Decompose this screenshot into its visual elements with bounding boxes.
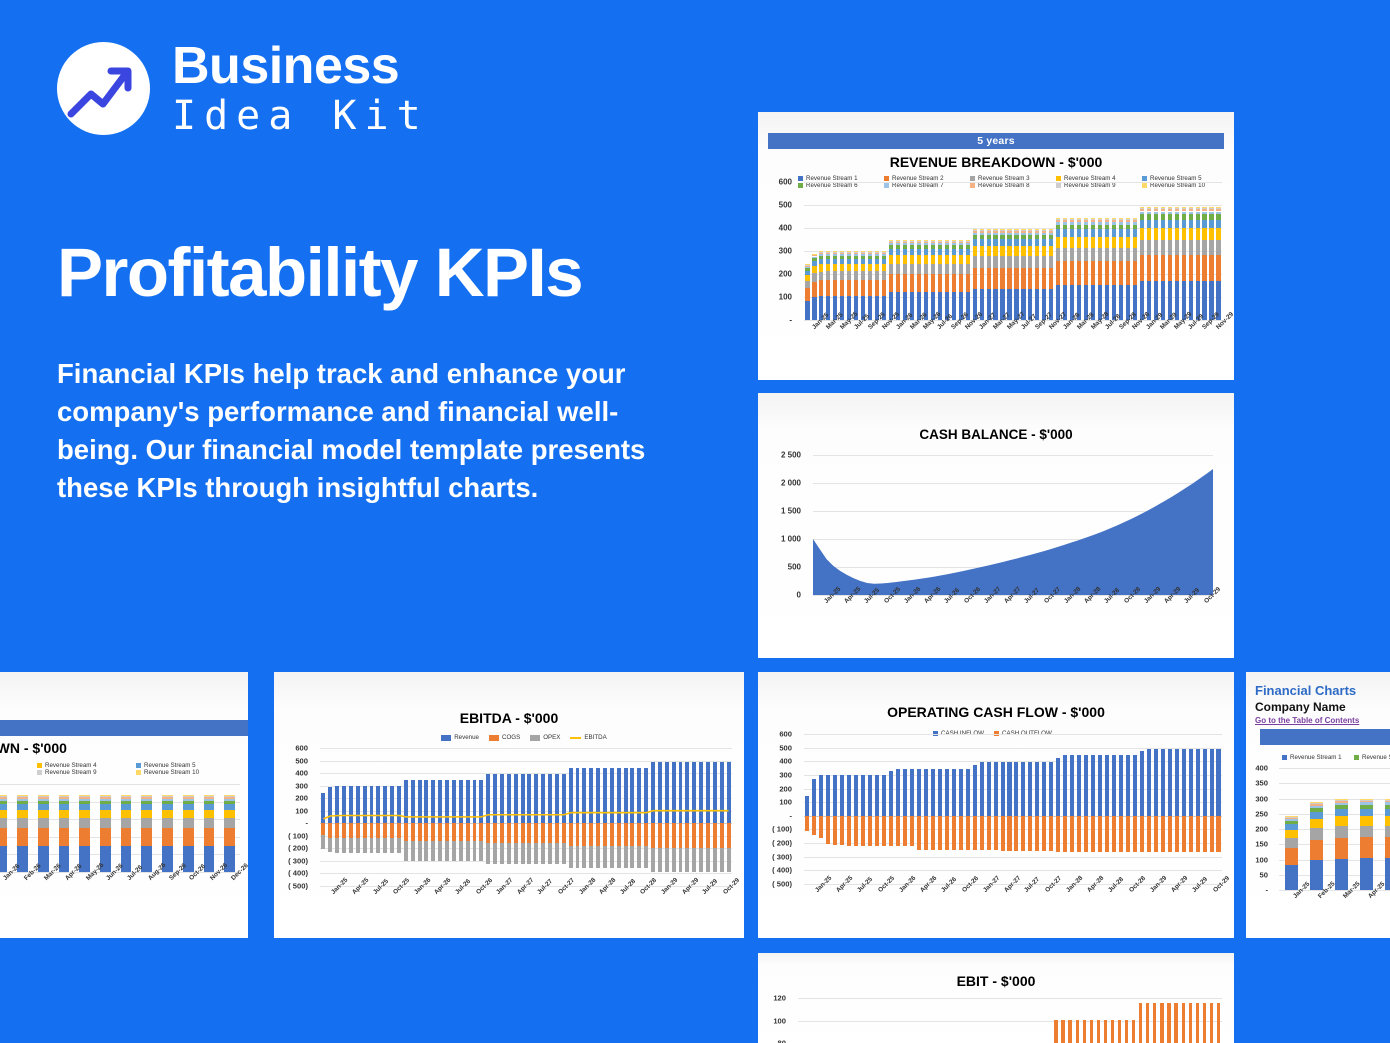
bar-segment [819,264,823,271]
bar-negative [819,816,823,838]
bar [917,240,921,320]
bar-positive [1035,762,1039,816]
bar-segment [1189,212,1193,215]
bar-segment [1168,228,1172,240]
y-axis-tick: 600 [779,178,792,187]
bar-segment [1133,218,1137,219]
bar [100,795,111,872]
bar-segment [1084,222,1088,225]
bar-positive [1007,762,1011,816]
bar-segment [79,795,90,796]
bar-segment [141,801,152,804]
bar-segment [1119,248,1123,261]
bar-segment [952,274,956,292]
bar-positive [1049,762,1053,816]
bar-segment [1077,219,1081,220]
bar [889,240,893,320]
bar-segment [819,256,823,259]
bar [1196,1003,1199,1043]
bar-segment [100,795,111,796]
bar-segment [1070,261,1074,284]
bar-segment [1112,229,1116,237]
bar-segment [805,267,809,268]
bar-segment [805,271,809,275]
trend-arrow-circle-icon [57,42,150,135]
gridline [1279,768,1390,769]
bar-negative [931,816,935,850]
bar-segment [833,254,837,256]
bar-segment [1285,824,1298,830]
bar-segment [910,242,914,243]
bar-segment [1098,218,1102,219]
bar-segment [1084,248,1088,261]
y-axis-tick: 350 [1255,779,1268,788]
y-axis-tick: 300 [779,247,792,256]
bar-negative [1154,816,1158,853]
bar-segment [1154,214,1158,219]
bar-positive [1140,751,1144,815]
bar-positive [1216,749,1220,816]
bar-segment [924,240,928,241]
bar-segment [1042,235,1046,239]
bar-segment [1182,228,1186,240]
bar-segment [1133,229,1137,237]
bar-segment [1175,207,1179,208]
bar-positive [1056,758,1060,816]
legend-label: Revenue Stream 2 [892,175,944,182]
bar [959,240,963,320]
bar-segment [1007,229,1011,230]
bar-segment [833,271,837,280]
legend-item: Revenue Stream 3 [0,762,37,769]
bar-segment [1042,268,1046,289]
bar-segment [1063,219,1067,220]
bar-segment [1077,229,1081,237]
bar-segment [38,804,49,810]
bar [1202,207,1206,320]
bar-segment [812,255,816,256]
bar-positive [1063,755,1067,815]
bar-segment [973,230,977,231]
bar [993,229,997,320]
y-axis: 600500400300200100-( 100)( 200)( 300)( 4… [274,748,314,886]
bar-segment [17,797,28,798]
bar-negative [1210,816,1214,853]
x-axis: Jan-25Mar-25May-25Jul-25Sep-25Nov-25Jan-… [804,324,1222,374]
bar-positive [1001,762,1005,816]
bar-segment [812,258,816,261]
bar-segment [1021,239,1025,246]
bar-negative [1168,816,1172,853]
bar [183,795,194,872]
y-axis-tick: 100 [1255,855,1268,864]
bar-segment [59,799,70,801]
bar-segment [917,255,921,263]
bar-segment [854,256,858,259]
bar-negative [889,816,893,846]
bar-positive [910,769,914,816]
legend-item: OPEX [530,734,560,741]
bar-segment [910,241,914,242]
bar-segment [980,256,984,268]
bar-segment [903,274,907,292]
bar-segment [931,264,935,274]
bar [1070,218,1074,320]
bar-segment [141,810,152,818]
bar-segment [100,799,111,801]
bar-positive [966,769,970,816]
area-series [813,455,1213,595]
bar-segment [924,264,928,274]
bar-segment [959,249,963,255]
bar-negative [1196,816,1200,853]
bar-segment [882,254,886,256]
bar-positive [868,775,872,816]
bar-segment [847,251,851,252]
bar-segment [0,810,7,818]
bar-segment [1385,837,1390,858]
bar-negative [966,816,970,850]
bar-segment [812,257,816,259]
bar-segment [162,795,173,796]
bar-segment [1119,261,1123,284]
bar [1090,1020,1093,1043]
bar-segment [966,240,970,241]
bar-segment [819,259,823,264]
bar-segment [1216,208,1220,209]
chart-legend: RevenueCOGSOPEXEBITDA [424,734,624,741]
chart-title-ebit: EBIT - $'000 [758,973,1234,989]
bar [1139,1003,1142,1043]
bar-negative [896,816,900,846]
bar-segment [1175,212,1179,215]
y-axis-tick: 200 [779,784,792,793]
bar-segment [1077,220,1081,222]
bar-segment [903,242,907,243]
bar-segment [945,274,949,292]
card-financial-charts[interactable]: Financial Charts Company Name Go to the … [1246,672,1390,938]
bar-segment [1189,208,1193,209]
bar-segment [1035,239,1039,246]
bar-segment [1154,209,1158,211]
bar-negative [924,816,928,850]
bar-segment [1335,838,1348,859]
y-axis-tick: 200 [779,270,792,279]
bar [1168,207,1172,320]
bar-segment [1049,231,1053,233]
bar-segment [826,251,830,252]
legend-item: Revenue Stream 1 [798,175,884,182]
bar-segment [819,251,823,252]
bar-segment [973,233,977,235]
bar-segment [1112,219,1116,220]
bar-segment [1084,229,1088,237]
bar-segment [875,264,879,271]
bar-segment [993,229,997,230]
bar-segment [1098,222,1102,225]
bar-positive [931,769,935,816]
bar-segment [896,243,900,245]
bar-segment [1126,229,1130,237]
bar-segment [1014,230,1018,231]
bar-positive [861,775,865,816]
bar-segment [1216,228,1220,240]
bar-segment [17,801,28,804]
bar-positive [917,769,921,816]
bar-segment [1216,255,1220,281]
bar-segment [204,804,215,810]
bar-segment [1335,859,1348,890]
bar-segment [1105,225,1109,230]
bar-segment [1175,240,1179,255]
bar-segment [17,804,28,810]
bar-segment [1209,208,1213,209]
bar-segment [1140,209,1144,211]
bar-segment [162,828,173,846]
bar-segment [1070,222,1074,225]
bar-segment [952,264,956,274]
card-revenue-breakdown-5y[interactable]: 5 years REVENUE BREAKDOWN - $'000 Revenu… [758,112,1234,380]
bar [121,795,132,872]
bar-segment [1049,229,1053,230]
card-ebit[interactable]: EBIT - $'000 12010080 [758,953,1234,1043]
bar-segment [1105,261,1109,284]
bar-positive [882,775,886,816]
bar-segment [1056,220,1060,222]
bar [868,251,872,320]
bar-segment [1335,809,1348,816]
bar-segment [910,255,914,263]
bar-positive [994,762,998,816]
bar-segment [1161,255,1165,281]
bar-segment [959,255,963,263]
bar-segment [1189,214,1193,219]
bar-segment [1140,220,1144,229]
bar-negative [1189,816,1193,853]
bar-positive [896,769,900,815]
bar-segment [945,255,949,263]
bar-segment [840,271,844,280]
bar-segment [1161,207,1165,208]
bar-segment [1028,239,1032,246]
bar [1061,1020,1064,1043]
bar-segment [1310,808,1323,812]
bar-segment [826,253,830,254]
bar [1217,1003,1220,1043]
bar-segment [1161,220,1165,229]
bar-segment [1035,231,1039,233]
bar-positive [833,775,837,816]
bar-positive [819,775,823,816]
bar-segment [183,797,194,798]
gridline [804,761,1222,762]
bar-negative [917,816,921,850]
bar-segment [1007,246,1011,256]
bar-segment [1168,214,1172,219]
bar [0,795,7,872]
bar-segment [1098,229,1102,237]
bar [903,240,907,320]
table-of-contents-link[interactable]: Go to the Table of Contents [1255,716,1359,725]
bar-segment [1021,231,1025,233]
bar-segment [896,264,900,274]
bar-segment [938,242,942,243]
bar-segment [868,271,872,280]
bar-segment [204,810,215,818]
gridline [804,228,1222,229]
y-axis-tick: 1 000 [781,535,801,544]
bar-segment [1175,255,1179,281]
bar-segment [840,253,844,254]
bar-segment [993,230,997,231]
bar-negative [1070,816,1074,852]
y-axis-tick: - [1265,886,1268,895]
bar-segment [987,239,991,246]
bar-segment [805,281,809,288]
bar-segment [1285,819,1298,821]
card-cash-balance[interactable]: CASH BALANCE - $'000 2 5002 0001 5001 00… [758,393,1234,658]
bar-segment [59,804,70,810]
bar-segment [1000,231,1004,233]
bar-segment [79,804,90,810]
bar-segment [1028,268,1032,289]
bar-segment [805,268,809,271]
bar-segment [896,245,900,249]
bar-segment [833,264,837,271]
bar [1083,1020,1086,1043]
chart-plot-area [1279,768,1390,890]
bar-segment [1168,207,1172,208]
bar [1104,1020,1107,1043]
bar-segment [1385,816,1390,826]
bar-segment [938,264,942,274]
bar-segment [826,256,830,259]
bar-segment [141,828,152,846]
bar-segment [826,264,830,271]
bar-segment [1147,228,1151,240]
bar-segment [1133,261,1137,284]
bar-segment [121,795,132,796]
bar-segment [952,242,956,243]
bar [1111,1020,1114,1043]
bar-negative [1175,816,1179,853]
bar-segment [966,245,970,249]
bar-negative [833,816,837,845]
bar-segment [0,846,7,872]
bar-segment [812,261,816,266]
bar-segment [973,231,977,233]
chart-legend: Revenue Stream 1Revenue Stream 6 [1282,754,1390,761]
bar-segment [840,254,844,256]
bar-segment [1035,256,1039,268]
bar-segment [980,246,984,256]
bar-segment [1335,826,1348,838]
bar-segment [1126,219,1130,220]
bar-segment [1098,219,1102,220]
bar-segment [1070,229,1074,237]
bar-positive [1154,749,1158,816]
bar-segment [1189,255,1193,281]
bar-segment [1335,800,1348,801]
bar-segment [1063,237,1067,248]
y-axis-tick: 2 000 [781,479,801,488]
bar-segment [1126,261,1130,284]
bar-segment [973,256,977,268]
bar-segment [1119,219,1123,220]
y-axis-tick: 100 [779,293,792,302]
bar-segment [938,274,942,292]
card-operating-cash-flow[interactable]: OPERATING CASH FLOW - $'000 CASH INFLOWC… [758,672,1234,938]
bar-segment [1335,816,1348,826]
bar [1097,1020,1100,1043]
bar-segment [1196,240,1200,255]
bar-segment [1168,212,1172,215]
y-axis-tick: 100 [773,1016,786,1025]
bar-segment [1126,222,1130,225]
legend-swatch [489,735,499,741]
bar-segment [38,818,49,828]
bar-positive [1070,755,1074,815]
bar-segment [1084,219,1088,220]
bar-positive [1028,762,1032,816]
bar-segment [1112,218,1116,219]
bar-segment [1028,235,1032,239]
bar [1147,207,1151,320]
bar [1360,799,1373,891]
bar-segment [1133,219,1137,220]
slide-canvas: Business Idea Kit Profitability KPIs Fin… [0,0,1390,1043]
bar-segment [924,274,928,292]
bar-segment [993,235,997,239]
bar-segment [1147,214,1151,219]
bar [931,240,935,320]
bar [1385,799,1390,891]
bar-segment [1070,225,1074,230]
bar-positive [1161,749,1165,816]
bar [1133,218,1137,320]
bar-segment [1112,248,1116,261]
bar-segment [903,255,907,263]
card-ebitda[interactable]: EBITDA - $'000 RevenueCOGSOPEXEBITDA 600… [274,672,744,938]
bar-segment [896,274,900,292]
bar-segment [924,243,928,245]
legend-swatch [798,176,803,181]
bar-segment [121,818,132,828]
bar-segment [1077,237,1081,248]
bar-segment [1119,218,1123,219]
bar [141,795,152,872]
chart-plot-area [804,734,1222,884]
bar-segment [882,264,886,271]
bar-segment [938,255,942,263]
bar-segment [875,253,879,254]
chart-legend: Revenue Stream 3Revenue Stream 4Revenue … [0,762,238,776]
bar-segment [1119,222,1123,225]
bar-segment [980,235,984,239]
bar-segment [889,245,893,249]
bar-segment [1000,268,1004,289]
bar-segment [875,254,879,256]
card-revenue-breakdown-24m[interactable]: 24 months REAKDOWN - $'000 Revenue Strea… [0,672,248,938]
bar-segment [1077,225,1081,230]
bar-segment [1049,246,1053,256]
bar-negative [812,816,816,835]
bar-segment [973,239,977,246]
bar-segment [141,796,152,797]
bar-segment [59,810,70,818]
bar-segment [1042,256,1046,268]
bar-segment [1189,207,1193,208]
